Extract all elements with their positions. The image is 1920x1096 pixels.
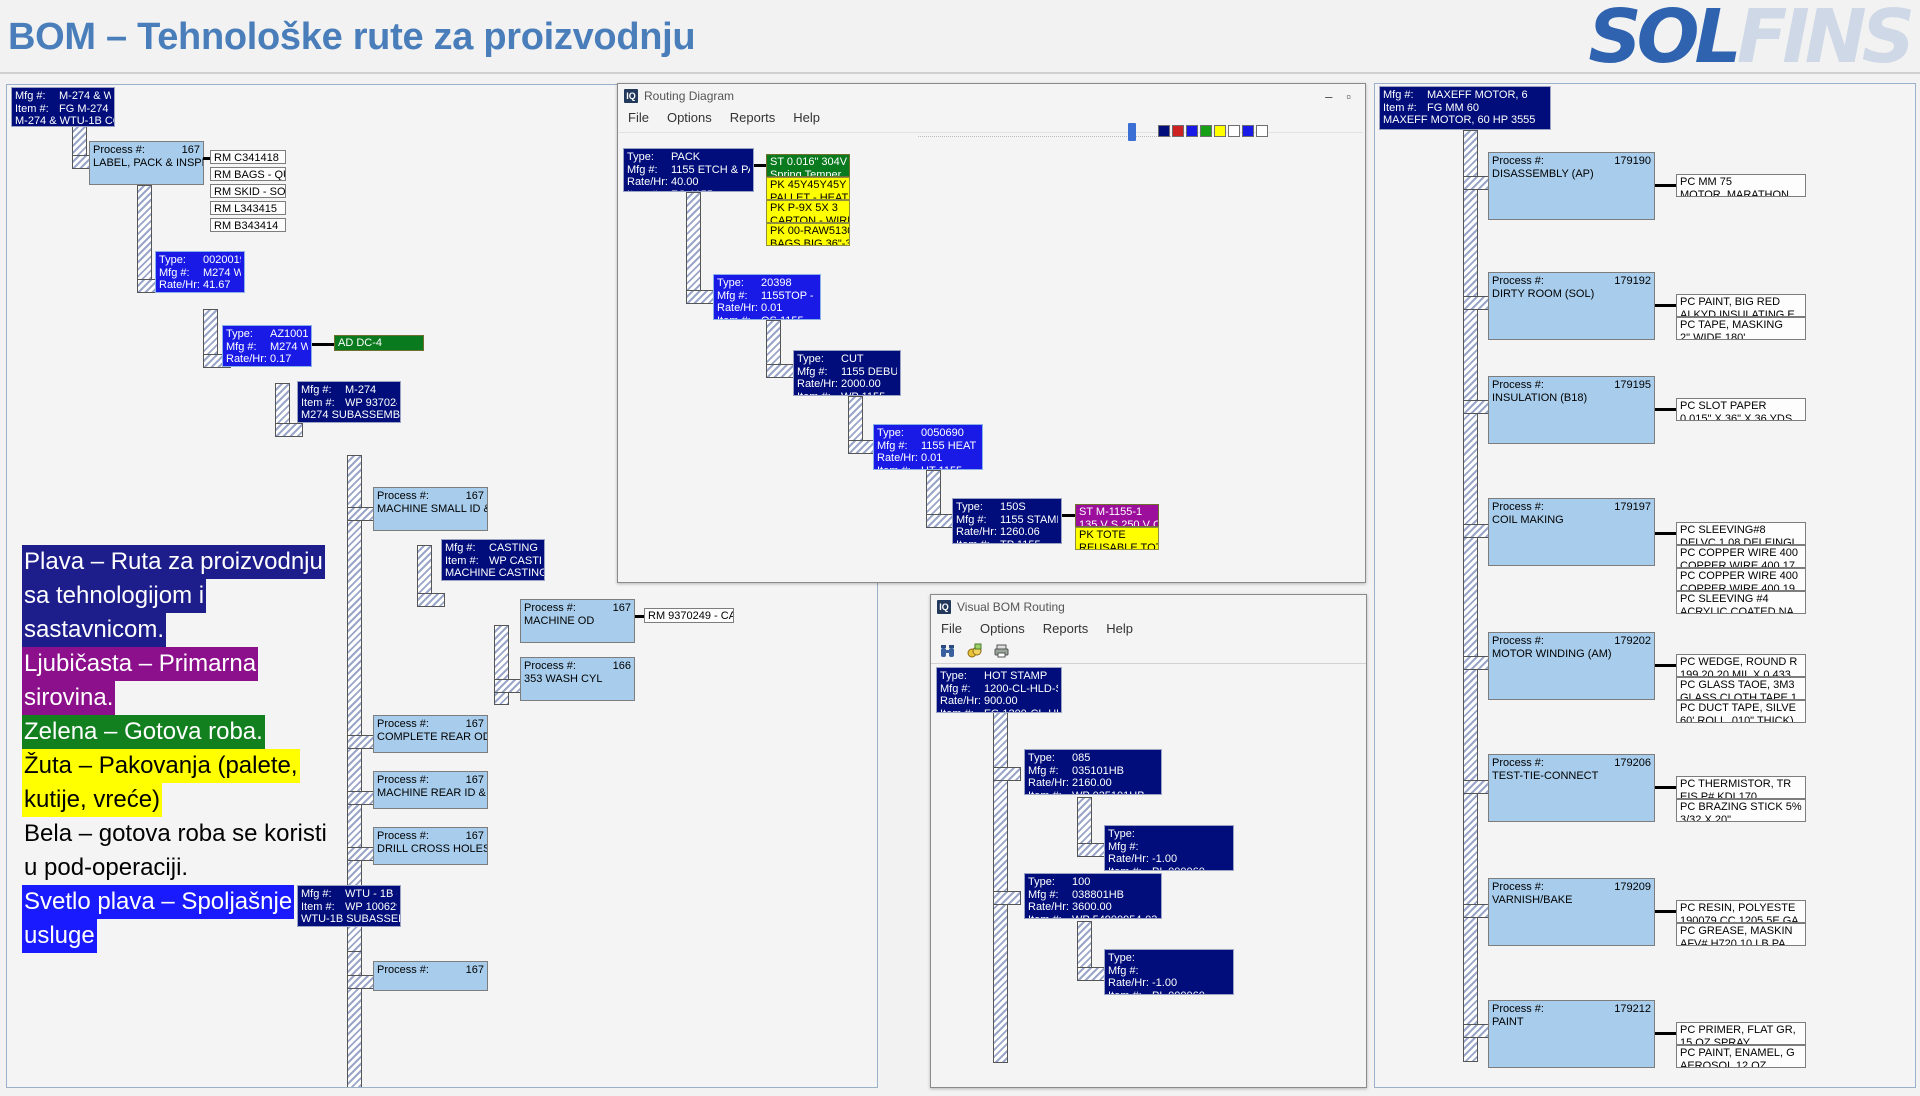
connector-pipe (766, 364, 794, 378)
link-wire (1655, 910, 1677, 913)
swatch[interactable] (1228, 125, 1240, 137)
operation-node[interactable]: Type:085 Mfg #:035101HB Rate/Hr:2160.00 … (1024, 749, 1162, 795)
material-line-2: ALKYD INSULATING E (1680, 309, 1802, 318)
material-node[interactable]: PC RESIN, POLYESTE 190079 CC 1205 5E GA (1676, 900, 1806, 923)
legend-line: sastavnicom. (22, 613, 166, 647)
right-diagram-panel: Mfg #:MAXEFF MOTOR, 6 Item #:FG MM 60 MA… (1374, 83, 1916, 1088)
material-line-2: COPPER WIRE 400 19 (1680, 583, 1802, 592)
menu-file[interactable]: File (628, 110, 649, 125)
operation-type: PACK (671, 151, 750, 164)
material-node[interactable]: PC SLEEVING #4 ACRYLIC COATED NA (1676, 591, 1806, 614)
operation-mfg: 1155 STAMP (1000, 514, 1058, 527)
process-number: 179190 (1614, 155, 1651, 168)
right-diagram-canvas[interactable]: Mfg #:MAXEFF MOTOR, 6 Item #:FG MM 60 MA… (1375, 84, 1915, 1087)
operation-rate: -1.00 (1152, 977, 1230, 990)
process-label: Process #: (93, 144, 145, 157)
root-value-2: FG MM 60 (1427, 102, 1547, 115)
link-wire (1062, 514, 1076, 517)
routing-diagram-window[interactable]: IQ Routing Diagram – ▫ File Options Repo… (617, 83, 1366, 583)
legend-line: kutije, vreće) (22, 783, 162, 817)
swatch[interactable] (1214, 125, 1226, 137)
process-number: 167 (466, 490, 484, 503)
legend-line: Plava – Ruta za proizvodnju (22, 545, 325, 579)
operation-item: FG 1200-CL-HLD (984, 708, 1058, 714)
process-label: Process #: (524, 602, 576, 615)
bom-diagram-canvas[interactable]: Type:HOT STAMP Mfg #:1200-CL-HLD-S Rate/… (931, 665, 1366, 1087)
brand-logo: SOLFINS (1588, 0, 1910, 80)
menu-reports[interactable]: Reports (1043, 621, 1089, 636)
operation-rate: 41.67 (203, 279, 241, 292)
material-line-2: ACRYLIC COATED NA (1680, 606, 1802, 615)
material-line-2: 15 OZ SPRAY (1680, 1037, 1802, 1046)
process-node[interactable]: Process #:179192 DIRTY ROOM (SOL) (1488, 272, 1655, 340)
connector-pipe (1463, 176, 1491, 190)
assembly-label-1: Mfg #: (301, 384, 345, 397)
link-wire (1655, 304, 1677, 307)
connector-pipe (275, 423, 303, 437)
material-line-2: 190079 CC 1205 5E GA (1680, 915, 1802, 924)
process-node[interactable]: Process #:179190 DISASSEMBLY (AP) (1488, 152, 1655, 220)
process-node[interactable]: Process #:167 DRILL CROSS HOLES & (373, 827, 488, 865)
material-line-1: PC GREASE, MASKIN (1680, 925, 1802, 938)
packaging-line-1: PK P-9X 5X 3 (770, 202, 846, 215)
material-line-1: PC MM 75 (1680, 176, 1802, 189)
operation-mfg: 1155 ETCH & PACK (671, 164, 750, 177)
legend-line: Bela – gotova roba se koristi (22, 817, 329, 851)
process-node[interactable]: Process #:167 (373, 961, 488, 991)
raw-material-line-1: ST M-1155-1 (1079, 506, 1155, 519)
menu-reports[interactable]: Reports (730, 110, 776, 125)
material-stack: RM C341418 RM BAGS - QUAR RM SKID - SOLI… (210, 150, 286, 232)
assembly-label-2: Item #: (301, 397, 345, 410)
operation-type: CUT (841, 353, 897, 366)
root-label-1: Mfg #: (1383, 89, 1427, 102)
process-number: 179195 (1614, 379, 1651, 392)
material-line-2: AFV# H720 10 LB PA (1680, 938, 1802, 947)
legend-line: u pod-operaciji. (22, 851, 190, 885)
connector-pipe (1463, 904, 1491, 918)
operation-mfg: 1200-CL-HLD-S (984, 683, 1058, 696)
operation-rate: 40.00 (671, 176, 750, 189)
process-number: 179206 (1614, 757, 1651, 770)
assembly-label-2: Item #: (445, 555, 489, 568)
material-line-2: 2" WIDE 180' (1680, 332, 1802, 341)
material-line-2: AEROSOL 12 OZ (1680, 1060, 1802, 1069)
root-desc: M-274 & WTU-1B COMP (15, 115, 111, 127)
process-node[interactable]: Process #:166 353 WASH CYL (520, 657, 635, 701)
process-number: 167 (466, 718, 484, 731)
link-wire (1655, 786, 1677, 789)
material-line-2: 3/32 X 20" (1680, 814, 1802, 823)
material-line-2: DELVC 1.08 DELEINGL (1680, 537, 1802, 546)
link-wire (312, 343, 334, 346)
link-wire (1655, 532, 1677, 535)
routing-window-titlebar[interactable]: IQ Routing Diagram – ▫ (618, 84, 1365, 106)
material-line-1: ST 0.016" 304V SS (770, 156, 846, 169)
bom-menubar[interactable]: File Options Reports Help (931, 617, 1366, 639)
process-label: Process #: (1492, 501, 1544, 514)
process-label: Process #: (377, 490, 429, 503)
packaging-line-1: PK 45Y45Y45Y (770, 179, 846, 192)
process-name: DIRTY ROOM (SOL) (1492, 288, 1651, 301)
operation-rate: 0.01 (921, 452, 979, 465)
operation-item: HT 1155 (921, 465, 979, 471)
material-line-1: PC COPPER WIRE 400 (1680, 570, 1802, 583)
operation-mfg: M274 WARHE (203, 267, 241, 280)
process-label: Process #: (1492, 635, 1544, 648)
legend-line: sirovina. (22, 681, 115, 715)
assembly-value-1: CASTING FOR (489, 542, 541, 555)
operation-item: WP 54900954-0388 (1072, 914, 1158, 920)
packaging-node[interactable]: PK TOTE REUSABLE TOTE (1075, 527, 1159, 550)
operation-rate: 2000.00 (841, 378, 897, 391)
material-node[interactable]: PC PRIMER, FLAT GR, 15 OZ SPRAY (1676, 1022, 1806, 1045)
process-name: COIL MAKING (1492, 514, 1651, 527)
material-node[interactable]: PC SLOT PAPER 0.015" X 36" X 36 YDS (1676, 398, 1806, 421)
process-label: Process #: (1492, 881, 1544, 894)
process-number: 167 (466, 830, 484, 843)
operation-type: HOT STAMP (984, 670, 1058, 683)
scroll-thumb[interactable] (1128, 123, 1136, 141)
assembly-desc: MACHINE CASTING FO (445, 567, 541, 580)
connector-pipe (686, 290, 714, 304)
operation-item: TP 1155 (1000, 539, 1058, 545)
material-line-1: PC BRAZING STICK 5% (1680, 801, 1802, 814)
color-swatches[interactable] (1158, 125, 1268, 137)
process-name: 353 WASH CYL (524, 673, 631, 686)
material-line-1: PC THERMISTOR, TR (1680, 778, 1802, 791)
material-node[interactable]: RM L343415 (210, 201, 286, 215)
bom-window-titlebar[interactable]: IQ Visual BOM Routing (931, 595, 1366, 617)
operation-mfg (1152, 965, 1230, 978)
process-number: 167 (182, 144, 200, 157)
root-label-2: Item #: (15, 103, 59, 116)
process-node[interactable]: Process #:167 MACHINE REAR ID & IN (373, 771, 488, 809)
packaging-line-2: BAGS BIG 36"-31"-55 (770, 238, 846, 247)
connector-pipe (1077, 967, 1105, 981)
operation-mfg: 1155 DEBUR (841, 366, 897, 379)
menu-help[interactable]: Help (793, 110, 820, 125)
money-icon[interactable] (966, 643, 983, 659)
connector-pipe (347, 975, 375, 989)
process-node[interactable]: Process #:179197 COIL MAKING (1488, 498, 1655, 566)
connector-pipe (1463, 1024, 1491, 1038)
link-wire (1655, 664, 1677, 667)
process-number: 167 (466, 774, 484, 787)
material-line-2: GLASS CLOTH TAPE 1 (1680, 692, 1802, 701)
material-line-1: PC GLASS TAOE, 3M3 (1680, 679, 1802, 692)
packaging-line-2: CARTON - WIRE STR (770, 215, 846, 224)
process-name: INSULATION (B18) (1492, 392, 1651, 405)
binoculars-icon[interactable] (939, 643, 956, 659)
menu-options[interactable]: Options (980, 621, 1025, 636)
connector-pipe (1463, 780, 1491, 794)
operation-item: PL 000060 (1152, 990, 1230, 996)
process-name: MACHINE REAR ID & IN (377, 787, 484, 800)
swatch[interactable] (1242, 125, 1254, 137)
swatch[interactable] (1158, 125, 1170, 137)
swatch[interactable] (1200, 125, 1212, 137)
material-line-1: PC SLEEVING #4 (1680, 593, 1802, 606)
process-node[interactable]: Process #:179195 INSULATION (B18) (1488, 376, 1655, 444)
connector-pipe (347, 507, 375, 521)
material-line-2: MOTOR, MARATHON (1680, 189, 1802, 198)
material-line-1: PC DUCT TAPE, SILVE (1680, 702, 1802, 715)
material-node[interactable]: PC THERMISTOR, TR EIS P# KDL170 (1676, 776, 1806, 799)
process-label: Process #: (377, 830, 429, 843)
material-node[interactable]: PC COPPER WIRE 400 COPPER WIRE 400 17 (1676, 545, 1806, 568)
operation-type: AZ1001 (270, 328, 308, 341)
process-node[interactable]: Process #:167 LABEL, PACK & INSPEC (89, 141, 204, 185)
operation-item: WP 1155 (841, 391, 897, 397)
material-line-2: 199 20 20 MIL X 0.433 (1680, 669, 1802, 678)
connector-pipe (1463, 524, 1491, 538)
connector-pipe (494, 679, 522, 693)
assembly-label-1: Mfg #: (445, 542, 489, 555)
material-node[interactable]: PC MM 75 MOTOR, MARATHON (1676, 174, 1806, 197)
packaging-line-1: PK 00-RAW51306002 (770, 225, 846, 238)
operation-node[interactable]: Type:HOT STAMP Mfg #:1200-CL-HLD-S Rate/… (936, 667, 1062, 713)
maximize-button[interactable]: ▫ (1346, 89, 1351, 104)
assembly-node[interactable]: Mfg #:CASTING FOR Item #:WP CASTING MACH… (441, 539, 545, 581)
legend-line: Zelena – Gotova roba. (22, 715, 265, 749)
process-name: DISASSEMBLY (AP) (1492, 168, 1651, 181)
process-number: 179209 (1614, 881, 1651, 894)
legend-line: Ljubičasta – Primarna (22, 647, 258, 681)
brand-logo-main: SOL (1588, 0, 1736, 80)
operation-node[interactable]: Type:150S Mfg #:1155 STAMP Rate/Hr:1260.… (952, 498, 1062, 544)
operation-item: FG 1155 (671, 189, 750, 193)
connector-pipe (1463, 130, 1478, 1062)
material-line-1: PC RESIN, POLYESTE (1680, 902, 1802, 915)
process-label: Process #: (524, 660, 576, 673)
material-line-1: PC COPPER WIRE 400 (1680, 547, 1802, 560)
process-name: COMPLETE REAR OD & (377, 731, 484, 744)
process-number: 179212 (1614, 1003, 1651, 1016)
packaging-line-1: PK TOTE (1079, 529, 1155, 542)
raw-material-node[interactable]: ST M-1155-1 135 V S 250 V COIL (1075, 504, 1159, 527)
legend-line: sa tehnologijom i (22, 579, 206, 613)
process-node[interactable]: Process #:179202 MOTOR WINDING (AM) (1488, 632, 1655, 700)
connector-pipe (417, 593, 445, 607)
material-node[interactable]: PC PAINT, BIG RED ALKYD INSULATING E (1676, 294, 1806, 317)
operation-rate: 3600.00 (1072, 901, 1158, 914)
operation-rate: 1260.06 (1000, 526, 1058, 539)
process-node[interactable]: Process #:167 MACHINE OD (520, 599, 635, 643)
material-node[interactable]: RM B343414 (210, 218, 286, 232)
material-node[interactable]: PC DUCT TAPE, SILVE 60' ROLL .010" THICK… (1676, 700, 1806, 723)
operation-mfg: 038801HB (1072, 889, 1158, 902)
operation-type (1152, 828, 1230, 841)
operation-node[interactable]: Type:20398 Mfg #:1155TOP - POWDER Rate/H… (713, 274, 821, 320)
connector-pipe (1463, 296, 1491, 310)
connector-pipe (1463, 656, 1491, 670)
process-label: Process #: (1492, 1003, 1544, 1016)
legend-line: Žuta – Pakovanja (palete, (22, 749, 300, 783)
print-icon[interactable] (993, 643, 1010, 659)
visual-bom-window[interactable]: IQ Visual BOM Routing File Options Repor… (930, 594, 1367, 1088)
menu-options[interactable]: Options (667, 110, 712, 125)
root-label-2: Item #: (1383, 102, 1427, 115)
minimize-button[interactable]: – (1325, 89, 1332, 104)
operation-type (1152, 952, 1230, 965)
process-name: MOTOR WINDING (AM) (1492, 648, 1651, 661)
process-name: MACHINE OD (524, 615, 631, 628)
operation-node[interactable]: Type:AZ1001 Mfg #:M274 WARHE Rate/Hr:0.1… (222, 325, 312, 367)
material-node[interactable]: RM SKID - SOLID (210, 184, 286, 198)
process-name: LABEL, PACK & INSPEC (93, 157, 200, 170)
operation-rate: 900.00 (984, 695, 1058, 708)
material-line-2: 0.015" X 36" X 36 YDS (1680, 413, 1802, 422)
assembly-desc: M274 SUBASSEMBLY (301, 409, 397, 422)
process-node[interactable]: Process #:179206 TEST-TIE-CONNECT (1488, 754, 1655, 822)
operation-type: 0050690 (921, 427, 979, 440)
operation-rate: -1.00 (1152, 853, 1230, 866)
operation-node[interactable]: Type: Mfg #: Rate/Hr:-1.00 Item #:PL 000… (1104, 949, 1234, 995)
operation-mfg: 035101HB (1072, 765, 1158, 778)
root-desc: MAXEFF MOTOR, 60 HP 3555 (1383, 114, 1547, 127)
packaging-line-2: REUSABLE TOTE (1079, 542, 1155, 551)
material-node[interactable]: RM 9370249 - CAS (644, 608, 734, 623)
legend-block: Plava – Ruta za proizvodnju sa tehnologi… (22, 545, 362, 953)
process-name: DRILL CROSS HOLES & (377, 843, 484, 856)
process-label: Process #: (377, 774, 429, 787)
operation-mfg: M274 WARHE (270, 341, 308, 354)
process-number: 167 (466, 964, 484, 977)
root-value-1: M-274 & WTU (59, 90, 111, 103)
material-node[interactable]: PC PAINT, ENAMEL, G AEROSOL 12 OZ (1676, 1045, 1806, 1068)
app-icon: IQ (624, 89, 638, 103)
material-node[interactable]: PC GREASE, MASKIN AFV# H720 10 LB PA (1676, 923, 1806, 946)
routing-scroll-strip[interactable] (618, 132, 1363, 147)
bom-window-title: Visual BOM Routing (957, 600, 1065, 614)
legend-line: Svetlo plava – Spoljašnje (22, 885, 294, 919)
process-number: 179202 (1614, 635, 1651, 648)
material-node[interactable]: PC COPPER WIRE 400 COPPER WIRE 400 19 (1676, 568, 1806, 591)
process-number: 166 (613, 660, 631, 673)
root-value-1: MAXEFF MOTOR, 6 (1427, 89, 1547, 102)
material-node[interactable]: PC SLEEVING#8 DELVC 1.08 DELEINGL (1676, 522, 1806, 545)
material-node[interactable]: ST 0.016" 304V SS Spring Temper (766, 154, 850, 177)
packaging-line-2: PALLET - HEAT TREA (770, 192, 846, 201)
material-node[interactable]: RM BAGS - QUAR (210, 167, 286, 181)
root-label-1: Mfg #: (15, 90, 59, 103)
menu-help[interactable]: Help (1106, 621, 1133, 636)
operation-rate: 0.01 (761, 302, 817, 315)
connector-pipe (993, 891, 1021, 905)
material-line-2: EIS P# KDL170 (1680, 791, 1802, 800)
link-wire (1655, 184, 1677, 187)
connector-pipe (1077, 843, 1105, 857)
material-line-2: Spring Temper (770, 169, 846, 178)
brand-logo-faded: FINS (1737, 0, 1910, 80)
routing-diagram-canvas[interactable]: Type:PACK Mfg #:1155 ETCH & PACK Rate/Hr… (618, 146, 1365, 582)
root-node[interactable]: Mfg #:M-274 & WTU Item #:FG M-274 & W M-… (11, 87, 115, 127)
connector-pipe (137, 185, 152, 293)
connector-pipe (686, 192, 701, 304)
material-line-2: COPPER WIRE 400 17 (1680, 560, 1802, 569)
operation-node[interactable]: Type: Mfg #: Rate/Hr:-1.00 Item #:PL 000… (1104, 825, 1234, 871)
operation-node[interactable]: Type:CUT Mfg #:1155 DEBUR Rate/Hr:2000.0… (793, 350, 901, 396)
raw-material-line-2: 135 V S 250 V COIL (1079, 519, 1155, 528)
link-wire (1655, 408, 1677, 411)
connector-pipe (494, 625, 509, 705)
process-label: Process #: (1492, 155, 1544, 168)
operation-rate: 2160.00 (1072, 777, 1158, 790)
material-line-1: PC PAINT, ENAMEL, G (1680, 1047, 1802, 1060)
process-number: 179192 (1614, 275, 1651, 288)
link-wire (754, 164, 766, 167)
connector-pipe (993, 767, 1021, 781)
operation-node[interactable]: Type:PACK Mfg #:1155 ETCH & PACK Rate/Hr… (623, 148, 754, 192)
process-name: TEST-TIE-CONNECT (1492, 770, 1651, 783)
packaging-node[interactable]: PK 00-RAW51306002 BAGS BIG 36"-31"-55 (766, 223, 850, 246)
material-line-1: PC PAINT, BIG RED (1680, 296, 1802, 309)
material-node[interactable]: RM C341418 (210, 150, 286, 164)
material-line-1: PC TAPE, MASKING (1680, 319, 1802, 332)
operation-node[interactable]: Type:0020019 Mfg #:M274 WARHE Rate/Hr:41… (155, 251, 245, 293)
connector-pipe (926, 514, 954, 528)
operation-node[interactable]: Type:0050690 Mfg #:1155 HEAT TREAT Rate/… (873, 424, 983, 470)
packaging-node[interactable]: PK P-9X 5X 3 CARTON - WIRE STR (766, 200, 850, 223)
operation-node[interactable]: Type:100 Mfg #:038801HB Rate/Hr:3600.00 … (1024, 873, 1162, 919)
operation-item: WP 035101HB (1072, 790, 1158, 796)
connector-pipe (993, 711, 1008, 1063)
assembly-node[interactable]: Mfg #:M-274 Item #:WP 9370249- M274 SUBA… (297, 381, 401, 423)
swatch[interactable] (1186, 125, 1198, 137)
process-name: MACHINE SMALL ID & O (377, 503, 484, 516)
link-wire (1655, 1032, 1677, 1035)
root-node[interactable]: Mfg #:MAXEFF MOTOR, 6 Item #:FG MM 60 MA… (1379, 86, 1551, 130)
operation-item: OS 1155 (761, 315, 817, 321)
process-node[interactable]: Process #:179212 PAINT (1488, 1000, 1655, 1068)
material-node[interactable]: PC WEDGE, ROUND R 199 20 20 MIL X 0.433 (1676, 654, 1806, 677)
material-line-1: PC SLOT PAPER (1680, 400, 1802, 413)
legend-line: usluge (22, 919, 97, 953)
operation-type: 20398 (761, 277, 817, 290)
material-node[interactable]: PC TAPE, MASKING 2" WIDE 180' (1676, 317, 1806, 340)
app-icon: IQ (937, 600, 951, 614)
process-node[interactable]: Process #:179209 VARNISH/BAKE (1488, 878, 1655, 946)
operation-mfg: 1155TOP - POWDER (761, 290, 817, 303)
assembly-value-2: WP CASTING (489, 555, 541, 568)
material-node[interactable]: PC GLASS TAOE, 3M3 GLASS CLOTH TAPE 1 (1676, 677, 1806, 700)
bom-toolbar[interactable] (931, 639, 1366, 664)
material-node[interactable]: PC BRAZING STICK 5% 3/32 X 20" (1676, 799, 1806, 822)
page-title: BOM – Tehnološke rute za proizvodnju (8, 16, 695, 59)
operation-item: PL 000060 (1152, 866, 1230, 872)
process-name: PAINT (1492, 1016, 1651, 1029)
operation-type: 0020019 (203, 254, 241, 267)
material-line-1: PC PRIMER, FLAT GR, (1680, 1024, 1802, 1037)
process-name: VARNISH/BAKE (1492, 894, 1651, 907)
process-node[interactable]: Process #:167 COMPLETE REAR OD & (373, 715, 488, 753)
operation-mfg (1152, 841, 1230, 854)
swatch[interactable] (1172, 125, 1184, 137)
material-line-2: 60' ROLL .010" THICK) (1680, 715, 1802, 724)
finished-good-node[interactable]: AD DC-4 (334, 335, 424, 351)
operation-type: 100 (1072, 876, 1158, 889)
process-node[interactable]: Process #:167 MACHINE SMALL ID & O (373, 487, 488, 531)
connector-pipe (1463, 400, 1491, 414)
operation-type: 150S (1000, 501, 1058, 514)
swatch[interactable] (1256, 125, 1268, 137)
process-label: Process #: (1492, 379, 1544, 392)
operation-mfg: 1155 HEAT TREAT (921, 440, 979, 453)
packaging-node[interactable]: PK 45Y45Y45Y PALLET - HEAT TREA (766, 177, 850, 200)
menu-file[interactable]: File (941, 621, 962, 636)
operation-type: 085 (1072, 752, 1158, 765)
